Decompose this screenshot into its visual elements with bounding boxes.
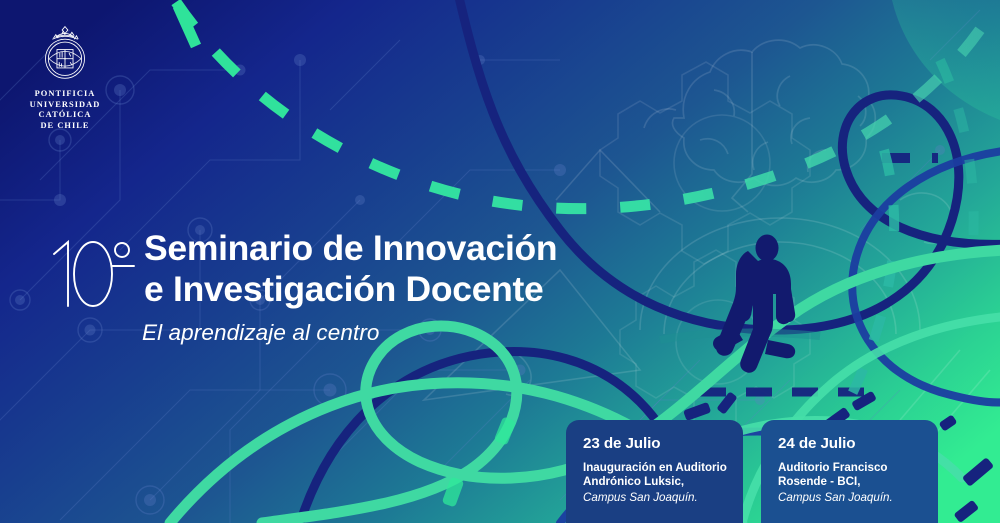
date-card-2[interactable]: 24 de Julio Auditorio Francisco Rosende …	[761, 420, 938, 523]
puc-crest-icon	[36, 22, 94, 84]
date-card-2-venue: Auditorio Francisco Rosende - BCI,	[778, 461, 922, 490]
logo-line-3: CATÓLICA	[18, 110, 112, 121]
date-cards: 23 de Julio Inauguración en Auditorio An…	[566, 420, 938, 523]
date-card-1[interactable]: 23 de Julio Inauguración en Auditorio An…	[566, 420, 743, 523]
headline-title: Seminario de Innovación e Investigación …	[144, 228, 557, 310]
date-card-2-campus: Campus San Joaquín.	[778, 491, 922, 505]
ordinal-number-10	[48, 234, 140, 312]
headline-line-2: e Investigación Docente	[144, 269, 557, 310]
headline-line-1: Seminario de Innovación	[144, 228, 557, 269]
university-logo-text: PONTIFICIA UNIVERSIDAD CATÓLICA DE CHILE	[18, 89, 112, 131]
logo-line-2: UNIVERSIDAD	[18, 100, 112, 111]
date-card-1-date: 23 de Julio	[583, 435, 727, 452]
logo-line-4: DE CHILE	[18, 121, 112, 132]
poster-canvas: PONTIFICIA UNIVERSIDAD CATÓLICA DE CHILE…	[0, 0, 1000, 523]
date-card-1-venue: Inauguración en Auditorio Andrónico Luks…	[583, 461, 727, 490]
date-card-1-campus: Campus San Joaquín.	[583, 491, 727, 505]
headline-subtitle: El aprendizaje al centro	[142, 320, 380, 346]
date-card-2-date: 24 de Julio	[778, 435, 922, 452]
university-logo: PONTIFICIA UNIVERSIDAD CATÓLICA DE CHILE	[18, 22, 112, 131]
logo-line-1: PONTIFICIA	[18, 89, 112, 100]
headline-block: Seminario de Innovación e Investigación …	[48, 228, 557, 312]
